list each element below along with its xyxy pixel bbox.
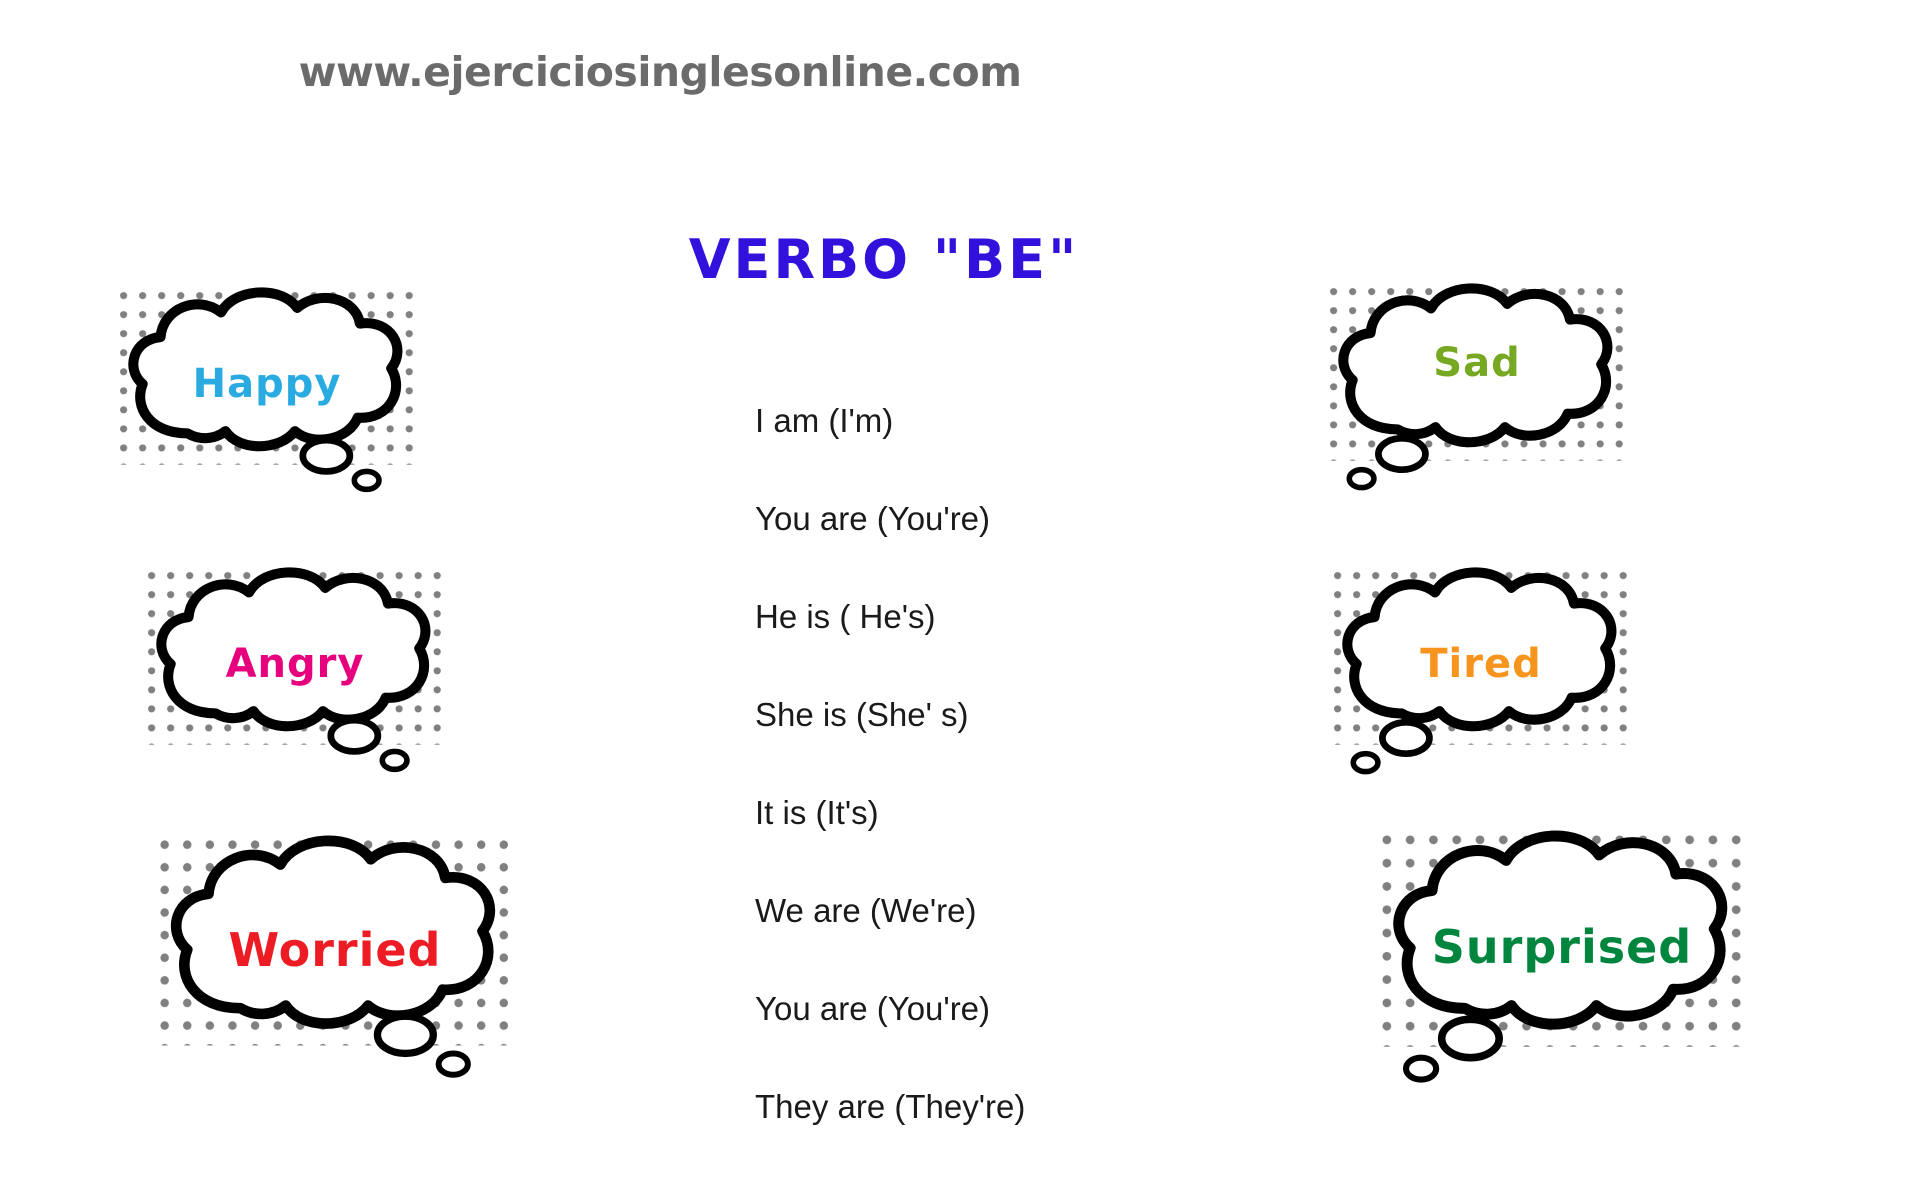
thought-bubble-tired: Tired [1326,562,1636,792]
thought-bubble-shape [112,282,422,512]
conjugation-line: You are (You're) [755,470,1185,568]
thought-bubble-happy: Happy [112,282,422,512]
conjugation-line: It is (It's) [755,764,1185,862]
conjugation-line: I am (I'm) [755,372,1185,470]
thought-bubble-worried: Worried [150,830,520,1100]
conjugation-line: She is (She' s) [755,666,1185,764]
verb-conjugation-list: I am (I'm) You are (You're) He is ( He's… [755,372,1185,1156]
conjugation-line: We are (We're) [755,862,1185,960]
thought-bubble-shape [140,562,450,792]
thought-bubble-sad: Sad [1322,278,1632,508]
thought-bubble-surprised: Surprised [1372,825,1752,1105]
thought-bubble-shape [1372,825,1752,1105]
thought-bubble-shape [1326,562,1636,792]
thought-bubble-shape [150,830,520,1100]
conjugation-line: You are (You're) [755,960,1185,1058]
thought-bubble-angry: Angry [140,562,450,792]
conjugation-line: He is ( He's) [755,568,1185,666]
site-watermark: www.ejerciciosinglesonline.com [0,48,1320,96]
thought-bubble-shape [1322,278,1632,508]
conjugation-line: They are (They're) [755,1058,1185,1156]
